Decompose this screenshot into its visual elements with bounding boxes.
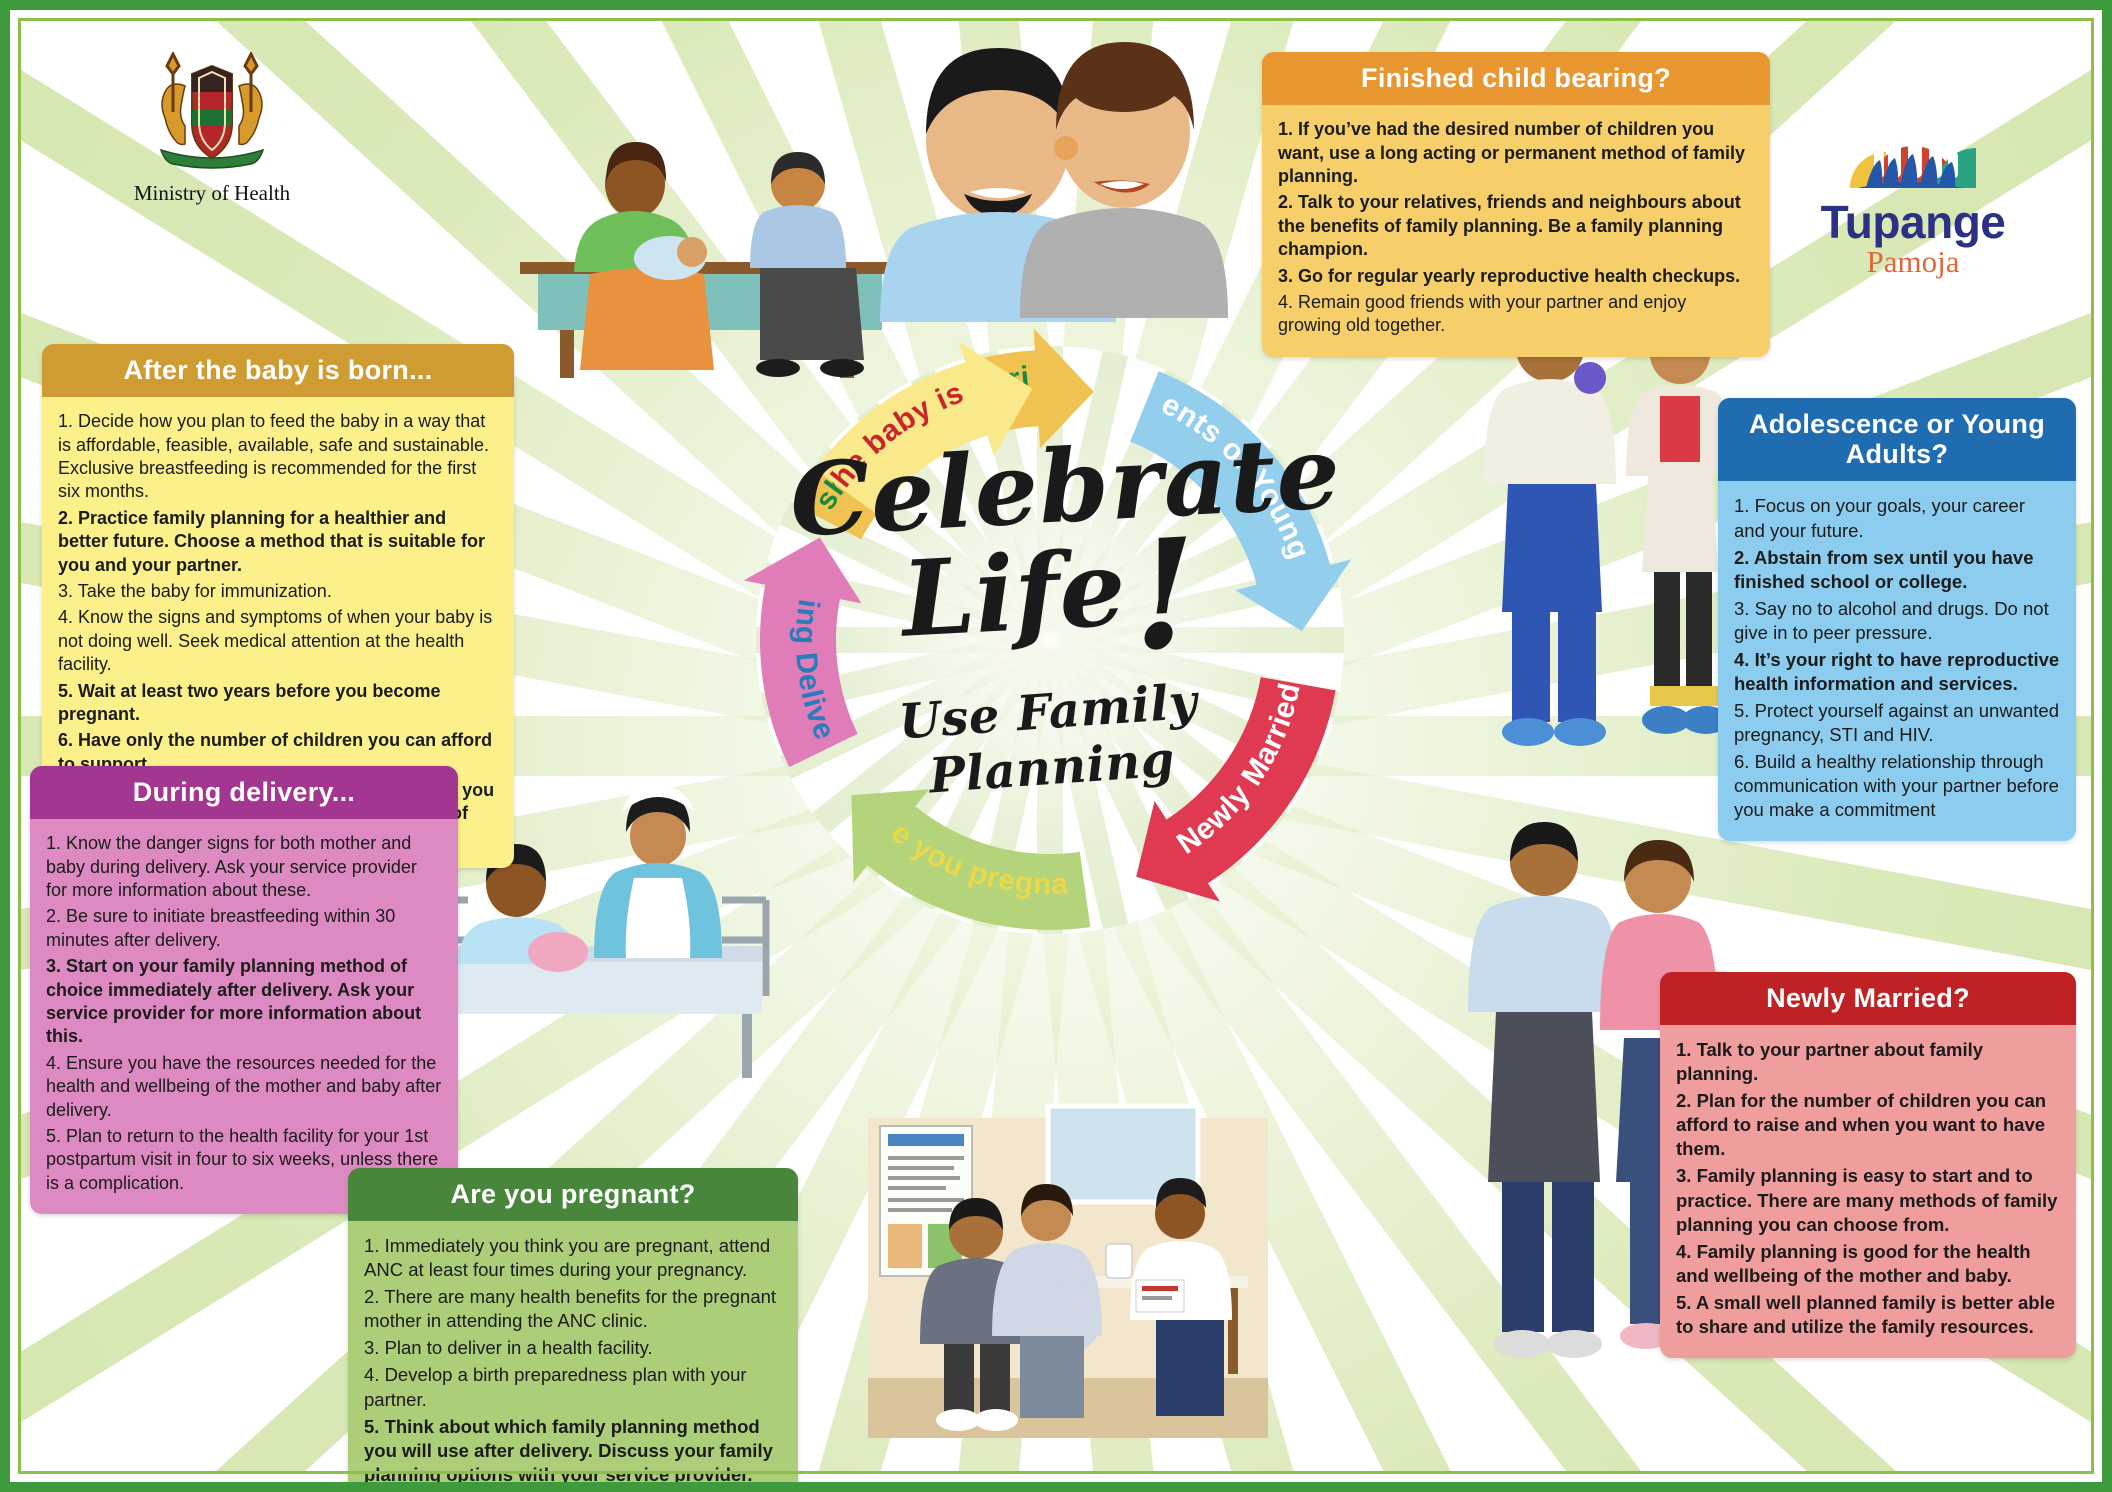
card-list-item: 5. Protect yourself against an unwanted … [1734,699,2060,747]
card-list-item: 4. It’s your right to have reproductive … [1734,648,2060,696]
ministry-of-health-block: Ministry of Health [92,52,332,206]
card-list-item: 3. Start on your family planning method … [46,955,442,1049]
kenya-coat-of-arms-icon [137,157,287,174]
card-list-item: 5. Think about which family planning met… [364,1415,782,1487]
young-adults-with-headphones-illustration [1462,300,1762,770]
card-list-item: 2. Be sure to initiate breastfeeding wit… [46,905,442,952]
couple-counselling-with-health-provider-illustration [868,1078,1268,1438]
card-list-item: 5. Wait at least two years before you be… [58,680,498,727]
card-title: Are you pregnant? [348,1168,798,1221]
card-title: Adolescence or Young Adults? [1718,398,2076,481]
card-title: After the baby is born... [42,344,514,397]
card-list-item: 2. There are many health benefits for th… [364,1285,782,1333]
card-list-item: 1. Focus on your goals, your career and … [1734,494,2060,542]
card-title: Finished child bearing? [1262,52,1770,105]
older-couple-smiling-illustration [880,22,1240,322]
card-list-item: 3. Take the baby for immunization. [58,580,498,603]
card-list-item: 2. Talk to your relatives, friends and n… [1278,191,1754,261]
card-newly-married: Newly Married? 1. Talk to your partner a… [1660,972,2076,1358]
card-list-item: 3. Plan to deliver in a health facility. [364,1336,782,1360]
card-list-item: 4. Ensure you have the resources needed … [46,1052,442,1122]
card-list-item: 3. Family planning is easy to start and … [1676,1164,2060,1236]
card-list-item: 1. Immediately you think you are pregnan… [364,1234,782,1282]
card-list-item: 4. Develop a birth preparedness plan wit… [364,1363,782,1411]
card-title: Newly Married? [1660,972,2076,1025]
card-list-item: 2. Practice family planning for a health… [58,507,498,577]
card-list-item: 3. Say no to alcohol and drugs. Do not g… [1734,597,2060,645]
card-body: 1. Know the danger signs for both mother… [30,819,458,1214]
card-body: 1. If you’ve had the desired number of c… [1262,105,1770,357]
card-list-item: 4. Know the signs and symptoms of when y… [58,606,498,676]
card-list-item: 1. Know the danger signs for both mother… [46,832,442,902]
card-body: 1. Immediately you think you are pregnan… [348,1221,798,1492]
card-list-item: 3. Go for regular yearly reproductive he… [1278,265,1754,288]
card-list-item: 1. If you’ve had the desired number of c… [1278,118,1754,188]
card-list-item: 1. Talk to your partner about family pla… [1676,1038,2060,1086]
card-finished-child-bearing: Finished child bearing? 1. If you’ve had… [1262,52,1770,357]
tupange-wordmark: Tupange [1798,199,2028,245]
pamoja-wordmark: Pamoja [1798,246,2028,277]
card-are-you-pregnant: Are you pregnant? 1. Immediately you thi… [348,1168,798,1492]
card-list-item: 4. Family planning is good for the healt… [1676,1240,2060,1288]
card-list-item: 1. Decide how you plan to feed the baby … [58,410,498,504]
poster-root: Ministry of Health [0,0,2112,1492]
card-body: 1. Focus on your goals, your career and … [1718,481,2076,841]
card-list-item: 4. Remain good friends with your partner… [1278,291,1754,338]
tupange-logo: Tupange Pamoja [1798,96,2028,277]
card-body: 1. Talk to your partner about family pla… [1660,1025,2076,1358]
card-list-item: 2. Plan for the number of children you c… [1676,1089,2060,1161]
card-during-delivery: During delivery... 1. Know the danger si… [30,766,458,1214]
ministry-of-health-label: Ministry of Health [92,181,332,206]
tupange-sunrise-people-icon [1828,179,1998,196]
mother-breastfeeding-with-partner-illustration [520,112,900,382]
card-list-item: 6. Build a healthy relationship through … [1734,750,2060,822]
card-list-item: 2. Abstain from sex until you have finis… [1734,546,2060,594]
card-title: During delivery... [30,766,458,819]
card-adolescence-or-young-adults: Adolescence or Young Adults? 1. Focus on… [1718,398,2076,841]
card-list-item: 5. A small well planned family is better… [1676,1291,2060,1339]
